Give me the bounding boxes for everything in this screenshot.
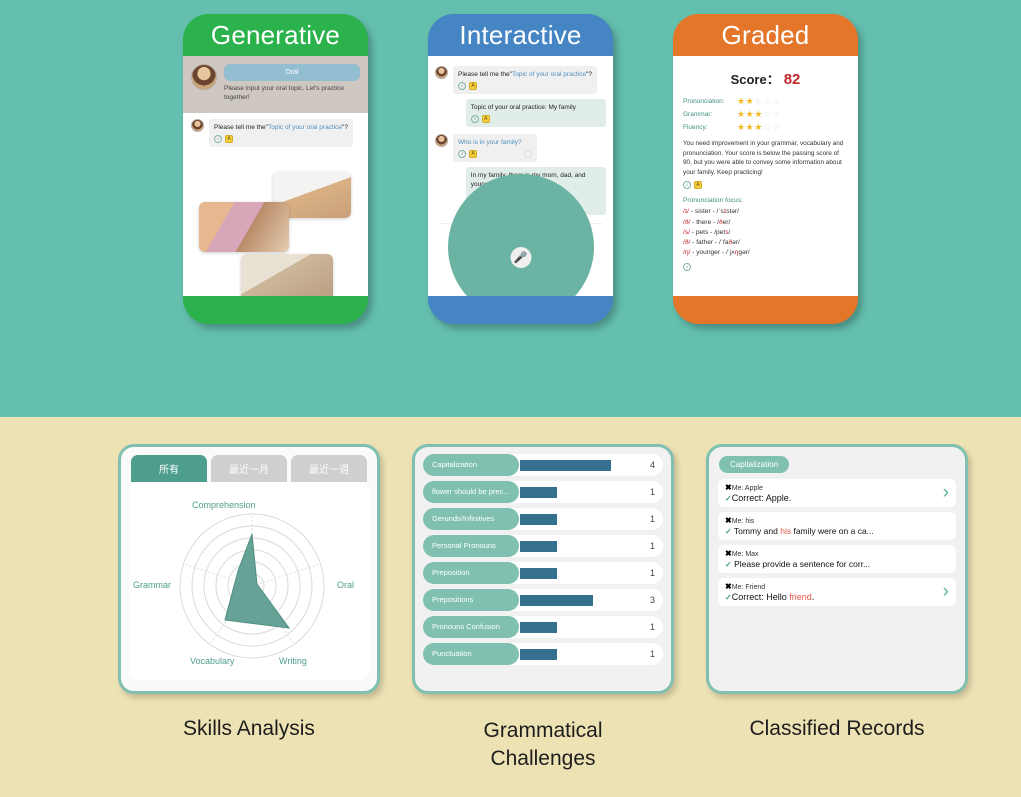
caption-line: Challenges xyxy=(393,745,693,773)
phone-footer-generative xyxy=(183,296,368,324)
cross-icon: ✖ xyxy=(725,483,732,492)
phone-screen-generative: Oral Please input your oral topic. Let's… xyxy=(183,56,368,296)
oral-topic-pill[interactable]: Oral xyxy=(224,64,360,81)
tab-all[interactable]: 所有 xyxy=(131,455,207,482)
bar-fill xyxy=(520,460,611,471)
rating-label: Pronunciation: xyxy=(683,98,737,105)
radar-chart: Comprehension Oral Writing Vocabulary Gr… xyxy=(129,482,369,680)
pronunciation-focus-list: /ɪ/ - sister - /ˈsɪstər/ /ð/ - there - /… xyxy=(683,207,848,258)
rating-grammar: Grammar: ★★★☆☆ xyxy=(683,110,848,119)
bar-chart-row[interactable]: Gerunds/Infinitives1 xyxy=(423,508,663,530)
bar-value: 1 xyxy=(637,649,663,659)
pronunciation-line: /ŋ/ - younger - /ˈjʌŋgər/ xyxy=(683,248,848,258)
pronunciation-focus-label: Pronunciation focus: xyxy=(683,197,848,204)
speaker-icon[interactable]: ♪ xyxy=(683,181,691,189)
feedback-text: You need improvement in your grammar, vo… xyxy=(683,139,848,177)
prompt-link[interactable]: Topic of your oral practice xyxy=(268,124,342,131)
bar-value: 1 xyxy=(637,622,663,632)
highlight-word: friend xyxy=(789,592,812,602)
avatar xyxy=(435,134,448,147)
topic-card-grid: My pet A birthday incident My family xyxy=(183,150,368,296)
chat-bubble-user-1: Topic of your oral practice: My family ♪… xyxy=(466,99,606,127)
bar-chart-row[interactable]: Punctuation1 xyxy=(423,643,663,665)
speaker-icon[interactable]: ♪ xyxy=(683,263,691,271)
bar-fill xyxy=(520,514,557,525)
score-display: Score：82 xyxy=(683,69,848,88)
cross-icon: ✖ xyxy=(725,549,732,558)
prompt-pre: Please tell me the" xyxy=(214,124,268,131)
radar-label-grammar: Grammar xyxy=(133,580,171,590)
phone-mockup-interactive: Interactive Please tell me the"Topic of … xyxy=(428,14,613,324)
phone-mockup-graded: Graded Score：82 Pronunciation: ★★☆☆☆ Gra… xyxy=(673,14,858,324)
ipa-symbol: /s/ xyxy=(683,229,690,236)
ipa-symbol: /ɪ/ xyxy=(683,208,689,215)
bar-label: Personal Pronouns xyxy=(423,535,519,557)
phone-screen-graded: Score：82 Pronunciation: ★★☆☆☆ Grammar: ★… xyxy=(673,56,858,296)
check-icon: ✓ xyxy=(725,527,732,536)
phone-screen-interactive: Please tell me the"Topic of your oral pr… xyxy=(428,56,613,296)
ipa-word: there xyxy=(696,219,711,226)
bar-value: 4 xyxy=(637,460,663,470)
bar-fill xyxy=(520,568,557,579)
check-icon: ✓ xyxy=(725,593,732,602)
record-correction: ✓ Tommy and his family were on a ca... xyxy=(725,526,949,536)
record-correction: ✓Correct: Apple. xyxy=(725,493,949,503)
chat-message-2: Who is in your family? ♪ A xyxy=(435,127,606,162)
translate-icon[interactable]: A xyxy=(694,181,702,189)
record-item[interactable]: ✖Me: Apple✓Correct: Apple.› xyxy=(718,479,956,507)
chevron-right-icon[interactable]: › xyxy=(943,581,949,603)
bar-value: 3 xyxy=(637,595,663,605)
star-rating: ★★★☆☆ xyxy=(737,110,780,119)
bar-chart-row[interactable]: Personal Pronouns1 xyxy=(423,535,663,557)
chat-bubble: Who is in your family? ♪ A xyxy=(453,134,537,162)
chat-bubble: Please tell me the"Topic of your oral pr… xyxy=(209,119,353,147)
bar-track xyxy=(519,541,637,552)
bar-fill xyxy=(520,595,593,606)
record-mine: ✖Me: his xyxy=(725,516,949,525)
pronunciation-line: /ð/ - father - /ˈfaðər/ xyxy=(683,238,848,248)
bar-chart-row[interactable]: Capitalization4 xyxy=(423,454,663,476)
tab-last-month[interactable]: 最近一月 xyxy=(211,455,287,482)
phone-header-generative: Generative xyxy=(183,14,368,56)
ipa-word: father xyxy=(696,239,713,246)
avatar xyxy=(435,66,448,79)
panel-grammatical-challenges: Capitalization4flower should be prec...1… xyxy=(412,444,674,694)
record-correction: ✓ Please provide a sentence for corr... xyxy=(725,559,949,569)
records-category-tag[interactable]: Capitalization xyxy=(719,456,789,473)
bar-track xyxy=(519,514,637,525)
generative-intro-block: Oral Please input your oral topic. Let's… xyxy=(183,56,368,113)
star-rating: ★★★☆☆ xyxy=(737,123,780,132)
translate-icon[interactable]: A xyxy=(469,150,477,158)
caption-line: Grammatical xyxy=(393,717,693,745)
pronunciation-line: /ɪ/ - sister - /ˈsɪstər/ xyxy=(683,207,848,217)
translate-icon[interactable]: A xyxy=(482,115,490,123)
msg-text: Topic of your oral practice: My family xyxy=(471,104,576,111)
check-icon: ✓ xyxy=(725,560,732,569)
speaker-icon[interactable]: ♪ xyxy=(214,135,222,143)
rating-fluency: Fluency: ★★★☆☆ xyxy=(683,123,848,132)
records-list: ✖Me: Apple✓Correct: Apple.›✖Me: his✓ Tom… xyxy=(709,479,965,614)
panel-skills-analysis: 所有 最近一月 最近一週 Comprehension Oral Writing … xyxy=(118,444,380,694)
msg-post: "? xyxy=(586,71,592,78)
ipa-symbol: /ð/ xyxy=(683,219,690,226)
bar-label: Capitalization xyxy=(423,454,519,476)
record-correction: ✓Correct: Hello friend. xyxy=(725,592,949,602)
chat-message-1: Please tell me the"Topic of your oral pr… xyxy=(435,62,606,94)
cross-icon: ✖ xyxy=(725,516,732,525)
topic-card-birthday[interactable] xyxy=(199,202,289,252)
record-item[interactable]: ✖Me: Max✓ Please provide a sentence for … xyxy=(718,545,956,573)
phone-mockup-generative: Generative Oral Please input your oral t… xyxy=(183,14,368,324)
pronunciation-line: /ð/ - there - /ðer/ xyxy=(683,218,848,228)
ipa-symbol: /ð/ xyxy=(683,239,690,246)
ipa-symbol: /ŋ/ xyxy=(683,249,690,256)
record-item[interactable]: ✖Me: Friend✓Correct: Hello friend.› xyxy=(718,578,956,606)
bar-chart-row[interactable]: flower should be prec...1 xyxy=(423,481,663,503)
record-mine: ✖Me: Max xyxy=(725,549,949,558)
avatar xyxy=(191,119,204,132)
bar-fill xyxy=(520,622,557,633)
bar-value: 1 xyxy=(637,568,663,578)
translate-icon[interactable]: A xyxy=(469,82,477,90)
highlight-word: his xyxy=(780,526,791,536)
msg-pre: Please tell me the" xyxy=(458,71,512,78)
avatar xyxy=(191,64,217,90)
bar-track xyxy=(519,622,637,633)
msg-question: Who is in your family? xyxy=(458,139,522,146)
rating-label: Fluency: xyxy=(683,124,737,131)
bar-chart-row[interactable]: Pronouns Confusion1 xyxy=(423,616,663,638)
radar-label-writing: Writing xyxy=(279,656,307,666)
bar-track xyxy=(519,649,637,660)
speaker-icon[interactable]: ♪ xyxy=(458,82,466,90)
bar-chart-list: Capitalization4flower should be prec...1… xyxy=(415,447,671,672)
phone-footer-interactive xyxy=(428,296,613,324)
speaker-icon[interactable]: ♪ xyxy=(471,115,479,123)
radar-label-vocabulary: Vocabulary xyxy=(190,656,235,666)
bar-fill xyxy=(520,541,557,552)
record-item[interactable]: ✖Me: his✓ Tommy and his family were on a… xyxy=(718,512,956,540)
ipa-word: younger xyxy=(696,249,720,256)
bar-chart-row[interactable]: Prepositions3 xyxy=(423,589,663,611)
phone-header-interactive: Interactive xyxy=(428,14,613,56)
star-rating: ★★☆☆☆ xyxy=(737,97,780,106)
bar-track xyxy=(519,460,637,471)
bar-value: 1 xyxy=(637,514,663,524)
score-value: 82 xyxy=(784,71,801,88)
bar-label: flower should be prec... xyxy=(423,481,519,503)
bubble-actions: ♪ A xyxy=(214,135,348,143)
bar-value: 1 xyxy=(637,487,663,497)
rating-pronunciation: Pronunciation: ★★☆☆☆ xyxy=(683,97,848,106)
panel-classified-records: Capitalization ✖Me: Apple✓Correct: Apple… xyxy=(706,444,968,694)
microphone-icon[interactable]: 🎤 xyxy=(510,247,531,268)
record-mine: ✖Me: Friend xyxy=(725,582,949,591)
speaker-icon[interactable]: ♪ xyxy=(458,150,466,158)
skills-tab-bar: 所有 最近一月 最近一週 xyxy=(121,447,377,482)
caption-classified-records: Classified Records xyxy=(687,717,987,741)
caption-grammatical-challenges: GrammaticalChallenges xyxy=(393,717,693,774)
bar-fill xyxy=(520,649,557,660)
bar-track xyxy=(519,568,637,579)
ipa-word: sister xyxy=(695,208,711,215)
bar-track xyxy=(519,595,637,606)
phone-footer-graded xyxy=(673,296,858,324)
bar-label: Prepositions xyxy=(423,589,519,611)
chat-bubble: Please tell me the"Topic of your oral pr… xyxy=(453,66,597,94)
record-mine: ✖Me: Apple xyxy=(725,483,949,492)
loading-icon xyxy=(524,150,532,158)
bar-track xyxy=(519,487,637,498)
bar-fill xyxy=(520,487,557,498)
caption-skills-analysis: Skills Analysis xyxy=(99,717,399,741)
topic-card-my-family[interactable] xyxy=(241,254,333,296)
ipa-word: pets xyxy=(696,229,708,236)
tab-last-week[interactable]: 最近一週 xyxy=(291,455,367,482)
phone-header-graded: Graded xyxy=(673,14,858,56)
score-label: Score： xyxy=(731,72,780,87)
check-icon: ✓ xyxy=(725,494,732,503)
bar-value: 1 xyxy=(637,541,663,551)
bar-label: Preposition xyxy=(423,562,519,584)
bar-label: Pronouns Confusion xyxy=(423,616,519,638)
chat-message-prompt: Please tell me the"Topic of your oral pr… xyxy=(183,113,368,150)
translate-icon[interactable]: A xyxy=(225,135,233,143)
intro-text: Please input your oral topic. Let's prac… xyxy=(224,85,360,103)
chevron-right-icon[interactable]: › xyxy=(943,482,949,504)
radar-series-polygon xyxy=(225,534,289,628)
rating-label: Grammar: xyxy=(683,111,737,118)
cross-icon: ✖ xyxy=(725,582,732,591)
radar-label-comprehension: Comprehension xyxy=(192,500,256,510)
radar-label-oral: Oral xyxy=(337,580,354,590)
pronunciation-line: /s/ - pets - /pets/ xyxy=(683,228,848,238)
msg-link[interactable]: Topic of your oral practice xyxy=(512,71,586,78)
bar-label: Gerunds/Infinitives xyxy=(423,508,519,530)
bar-chart-row[interactable]: Preposition1 xyxy=(423,562,663,584)
prompt-post: "? xyxy=(342,124,348,131)
bar-label: Punctuation xyxy=(423,643,519,665)
